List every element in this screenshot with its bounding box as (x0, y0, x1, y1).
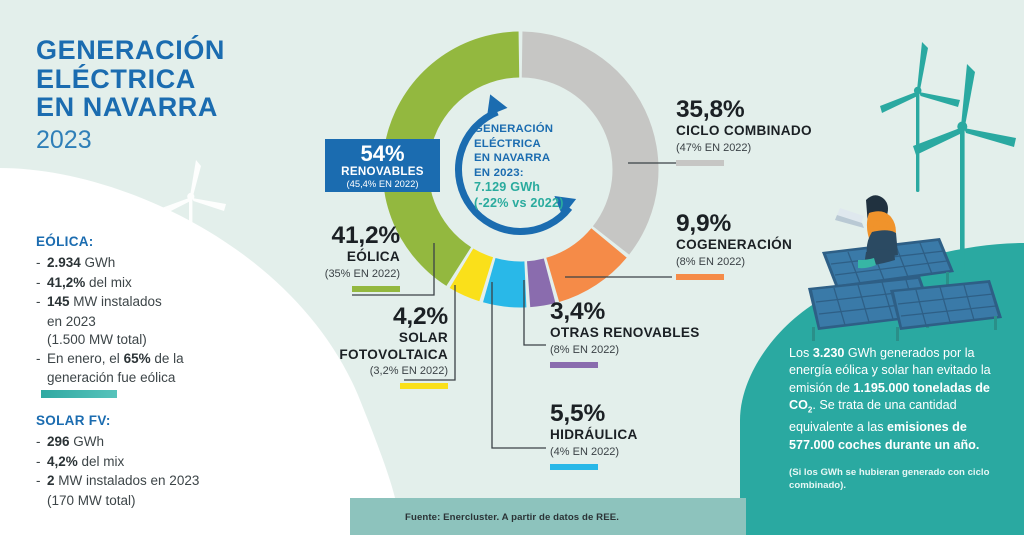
callout-otras-renovables: 3,4% OTRAS RENOVABLES (8% EN 2022) (550, 298, 750, 368)
stat-value: 2.934 (47, 255, 81, 270)
stat-unit: del mix (85, 275, 132, 290)
title-line-3: EN NAVARRA (36, 93, 336, 122)
stat-pre: En enero, el (47, 351, 124, 366)
co2-paragraph: Los 3.230 GWh generados por la energía e… (789, 345, 994, 454)
stat-text: 2 MW instalados en 2023 (47, 472, 296, 491)
bullet-dash: - (36, 274, 47, 293)
stat-value: 296 (47, 434, 70, 449)
callout-pct: 9,9% (676, 210, 876, 237)
stat-unit: GWh (70, 434, 105, 449)
callout-prev: (4% EN 2022) (550, 445, 750, 459)
stat-unit: GWh (81, 255, 116, 270)
callout-pct: 41,2% (160, 222, 400, 249)
stat-unit: MW instalados (70, 294, 162, 309)
center-total-gwh: 7.129 GWh (474, 180, 604, 195)
callout-pct: 4,2% (208, 303, 448, 330)
callout-color-bar (550, 362, 598, 368)
section-divider (41, 390, 117, 398)
renewables-label: RENOVABLES (325, 165, 440, 178)
stat-continuation: (170 MW total) (36, 492, 296, 511)
renewables-badge: 54% RENOVABLES (45,4% EN 2022) (325, 139, 440, 192)
co2-a: Los (789, 346, 813, 360)
donut-center-label: GENERACIÓN ELÉCTRICA EN NAVARRA EN 2023:… (474, 122, 604, 211)
callout-color-bar (676, 160, 724, 166)
title-year: 2023 (36, 125, 336, 156)
callout-name: OTRAS RENOVABLES (550, 325, 750, 342)
stat-value: 4,2% (47, 454, 78, 469)
bullet-dash: - (36, 453, 47, 472)
stat-value: 2 (47, 473, 55, 488)
renewables-pct: 54% (325, 142, 440, 165)
stat-unit: MW instalados en 2023 (55, 473, 200, 488)
callout-color-bar (400, 383, 448, 389)
callout-name: COGENERACIÓN (676, 237, 876, 254)
title-line-1: GENERACIÓN (36, 36, 336, 65)
arrow-head-icon (480, 90, 508, 116)
stats-solar-heading: SOLAR FV: (36, 413, 296, 428)
callout-cogeneracion: 9,9% COGENERACIÓN (8% EN 2022) (676, 210, 876, 280)
callout-color-bar (550, 464, 598, 470)
bullet-dash: - (36, 433, 47, 452)
callout-name: EÓLICA (160, 249, 400, 266)
stats-solar: SOLAR FV: - 296 GWh - 4,2% del mix - 2 M… (36, 413, 296, 510)
callout-name-2: FOTOVOLTAICA (208, 347, 448, 364)
center-line-2: ELÉCTRICA (474, 137, 604, 152)
page-title: GENERACIÓN ELÉCTRICA EN NAVARRA 2023 (36, 36, 336, 156)
callout-pct: 3,4% (550, 298, 750, 325)
center-line-3: EN NAVARRA (474, 151, 604, 166)
stat-post: de la (151, 351, 184, 366)
bullet-dash: - (36, 293, 47, 312)
stat-value: 65% (124, 351, 151, 366)
callout-prev: (8% EN 2022) (676, 255, 876, 269)
callout-prev: (35% EN 2022) (160, 267, 400, 281)
callout-prev: (8% EN 2022) (550, 343, 750, 357)
infographic-canvas: GENERACIÓN ELÉCTRICA EN NAVARRA 2023 EÓL… (0, 0, 1024, 535)
center-total-delta: (-22% vs 2022) (474, 196, 604, 211)
callout-name: HIDRÁULICA (550, 427, 750, 444)
co2-note: (Si los GWh se hubieran generado con cic… (789, 467, 994, 492)
bullet-dash: - (36, 254, 47, 273)
callout-ciclo-combinado: 35,8% CICLO COMBINADO (47% EN 2022) (676, 96, 876, 166)
callout-prev: (47% EN 2022) (676, 141, 876, 155)
stat-value: 41,2% (47, 275, 85, 290)
callout-solar-fotovoltaica: 4,2% SOLAR FOTOVOLTAICA (3,2% EN 2022) (208, 303, 448, 389)
callout-name: CICLO COMBINADO (676, 123, 876, 140)
stat-text: 296 GWh (47, 433, 296, 452)
callout-prev: (3,2% EN 2022) (208, 364, 448, 378)
callout-name: SOLAR (208, 330, 448, 347)
title-line-2: ELÉCTRICA (36, 65, 336, 94)
stat-unit: del mix (78, 454, 125, 469)
list-item: - 2 MW instalados en 2023 (36, 472, 296, 491)
center-line-1: GENERACIÓN (474, 122, 604, 137)
callout-color-bar (676, 274, 724, 280)
co2-gwh: 3.230 (813, 346, 845, 360)
co2-savings-panel: Los 3.230 GWh generados por la energía e… (789, 345, 994, 492)
callout-pct: 5,5% (550, 400, 750, 427)
list-item: - 296 GWh (36, 433, 296, 452)
callout-color-bar (352, 286, 400, 292)
bullet-dash: - (36, 350, 47, 369)
callout-hidraulica: 5,5% HIDRÁULICA (4% EN 2022) (550, 400, 750, 470)
callout-pct: 35,8% (676, 96, 876, 123)
callout-eolica: 41,2% EÓLICA (35% EN 2022) (160, 222, 400, 292)
renewables-prev: (45,4% EN 2022) (325, 178, 440, 190)
source-note: Fuente: Enercluster. A partir de datos d… (0, 512, 1024, 523)
stat-text: 4,2% del mix (47, 453, 296, 472)
list-item: - 4,2% del mix (36, 453, 296, 472)
bullet-dash: - (36, 472, 47, 491)
center-line-4: EN 2023: (474, 166, 604, 181)
stat-value: 145 (47, 294, 70, 309)
